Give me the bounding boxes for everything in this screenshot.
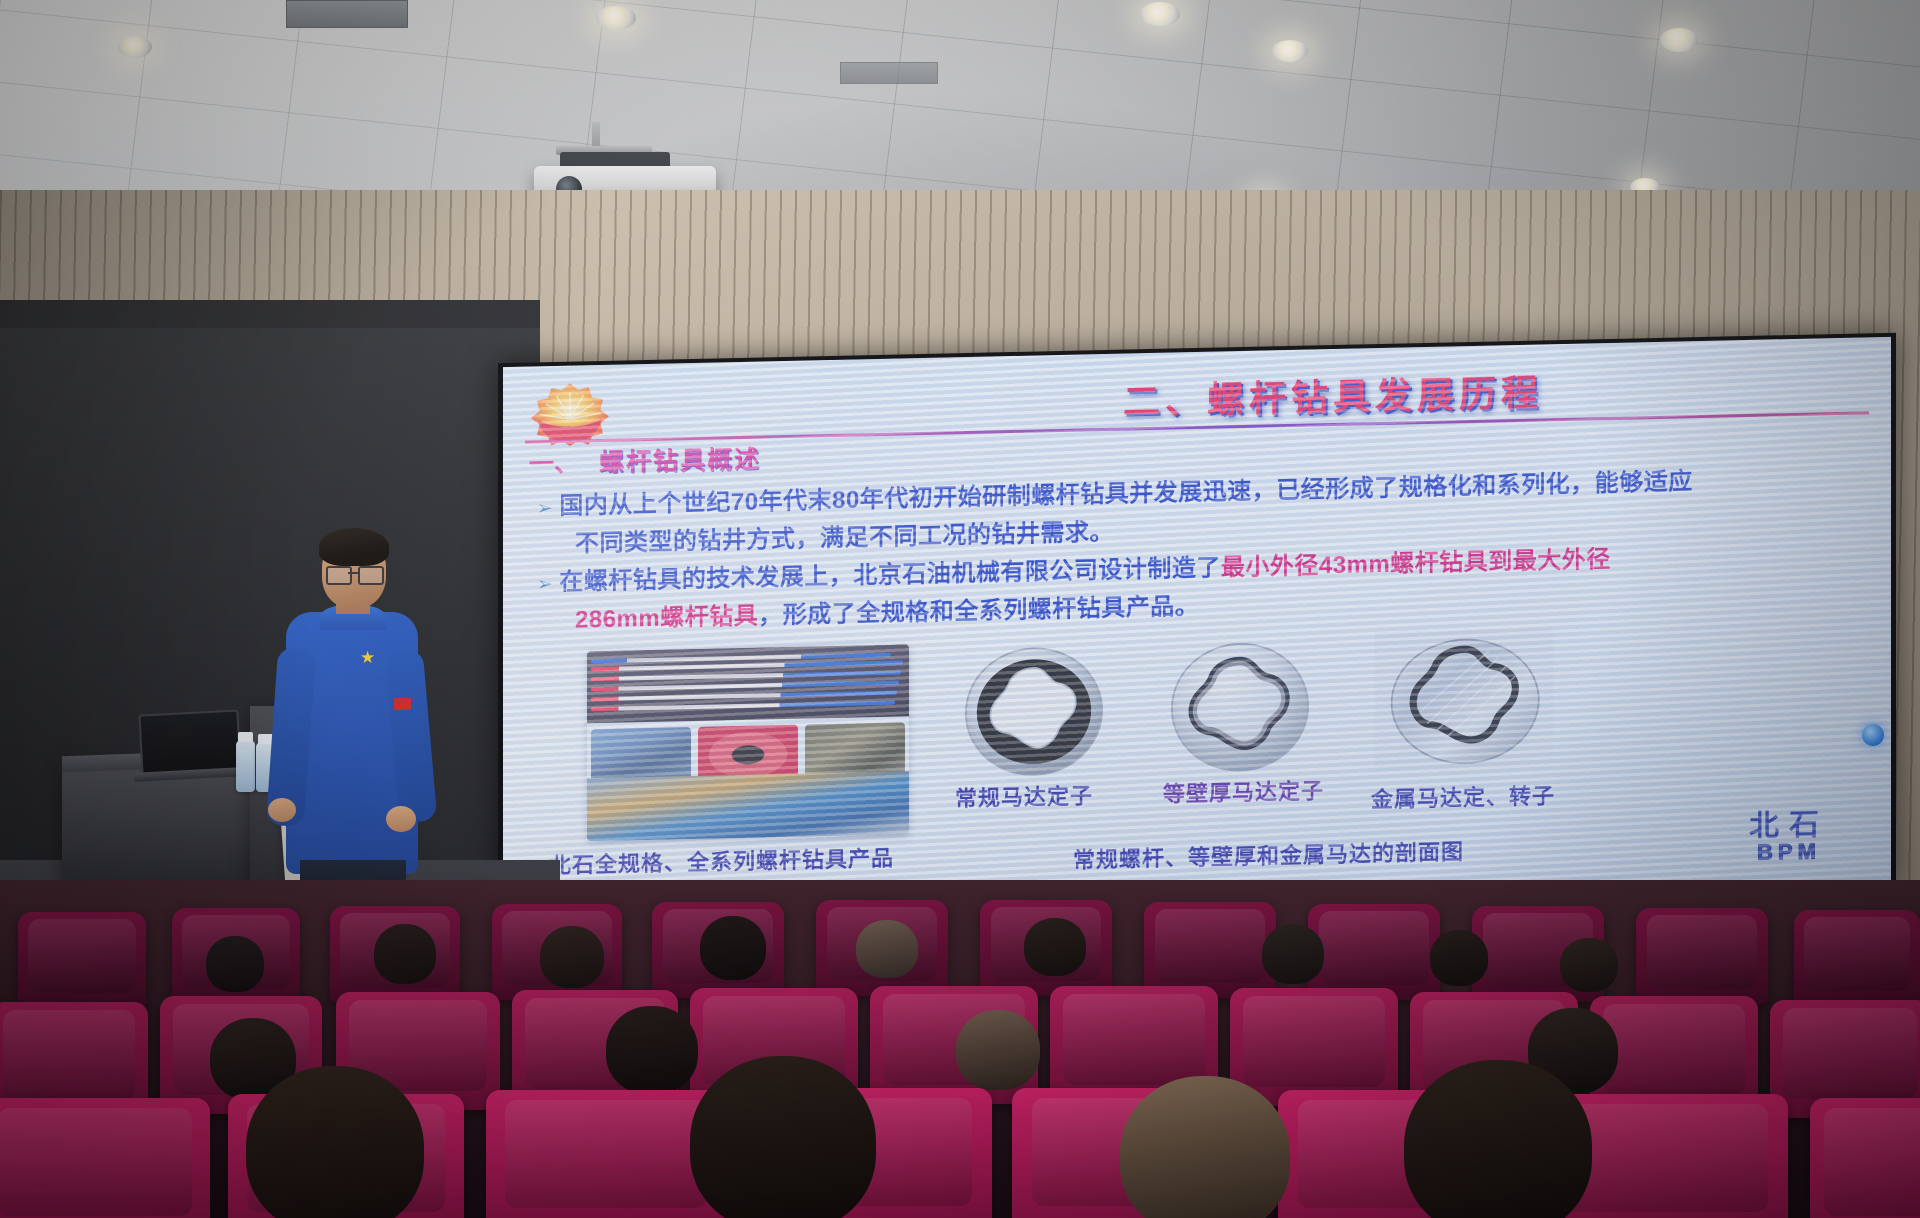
bullet-marker-icon: ➢ <box>537 498 553 519</box>
water-bottle-cap <box>238 732 253 742</box>
ceiling-air-vent <box>286 0 408 28</box>
section-heading: 螺杆钻具概述 <box>599 440 761 480</box>
ceiling-downlight <box>1140 2 1180 26</box>
slide-title: 二、螺杆钻具发展历程 <box>803 355 1863 432</box>
water-bottle <box>236 740 255 792</box>
presenter-shirt-flag-patch <box>394 698 411 710</box>
bpm-brand-logo: 北石 BPM <box>1719 810 1859 865</box>
even-wall-motor-stator-xsection <box>1167 637 1313 774</box>
bpm-logo-en: BPM <box>1719 840 1859 865</box>
caption-metal-motor: 金属马达定、转子 <box>1371 778 1555 814</box>
ceiling-downlight <box>1272 40 1308 62</box>
workshop-photo <box>587 772 909 842</box>
presenter-hair <box>319 528 389 566</box>
caption-figure-group: 常规螺杆、等壁厚和金属马达的剖面图 <box>1073 834 1464 875</box>
screen-status-led <box>1862 724 1884 746</box>
ceiling-air-vent <box>840 62 938 84</box>
seat <box>1230 988 1398 1106</box>
bullet-text: ，形成了全规格和全系列螺杆钻具产品。 <box>758 593 1199 630</box>
bullet-text-highlight: 最小外径43mm螺杆钻具到最大外径 <box>1221 546 1611 582</box>
seat <box>18 912 146 1008</box>
product-photo-collage <box>587 644 909 841</box>
slide-title-band: 二、螺杆钻具发展历程 <box>803 355 1863 432</box>
seat <box>0 1098 210 1218</box>
presenter-shirt-star-emblem: ★ <box>360 648 375 668</box>
presenter-left-hand <box>268 798 296 822</box>
section-number: 一、 <box>529 443 579 480</box>
presenter-glasses-left-lens <box>326 566 352 585</box>
conventional-motor-stator-xsection <box>961 642 1107 779</box>
presenter-glasses-bridge <box>348 572 358 574</box>
seat <box>1308 904 1440 1000</box>
caption-even-wall-stator: 等壁厚马达定子 <box>1163 773 1324 809</box>
seat <box>1810 1098 1920 1218</box>
caption-product-collage: 北石全规格、全系列螺杆钻具产品 <box>549 841 894 881</box>
seat <box>1794 910 1920 1006</box>
ceiling-downlight <box>596 6 636 30</box>
caption-conventional-stator: 常规马达定子 <box>955 778 1093 813</box>
seat <box>1636 908 1768 1004</box>
bullet-marker-icon: ➢ <box>537 574 553 595</box>
ceiling-downlight <box>118 36 152 58</box>
seat <box>1144 902 1276 998</box>
presenter-glasses-right-lens <box>358 566 384 585</box>
bullet-text-highlight: 286mm螺杆钻具 <box>575 603 758 634</box>
presenter-right-hand <box>386 806 416 832</box>
metal-motor-stator-rotor-xsection <box>1375 628 1553 772</box>
drill-rod-photo <box>587 644 909 723</box>
conference-hall-photo: GREE <box>0 0 1920 1218</box>
projection-screen: 二、螺杆钻具发展历程 一、 螺杆钻具概述 ➢国内从上个世纪70年代末80年代初开… <box>503 337 1891 915</box>
ceiling-downlight <box>1660 28 1698 52</box>
bpm-logo-cn: 北石 <box>1719 810 1859 843</box>
